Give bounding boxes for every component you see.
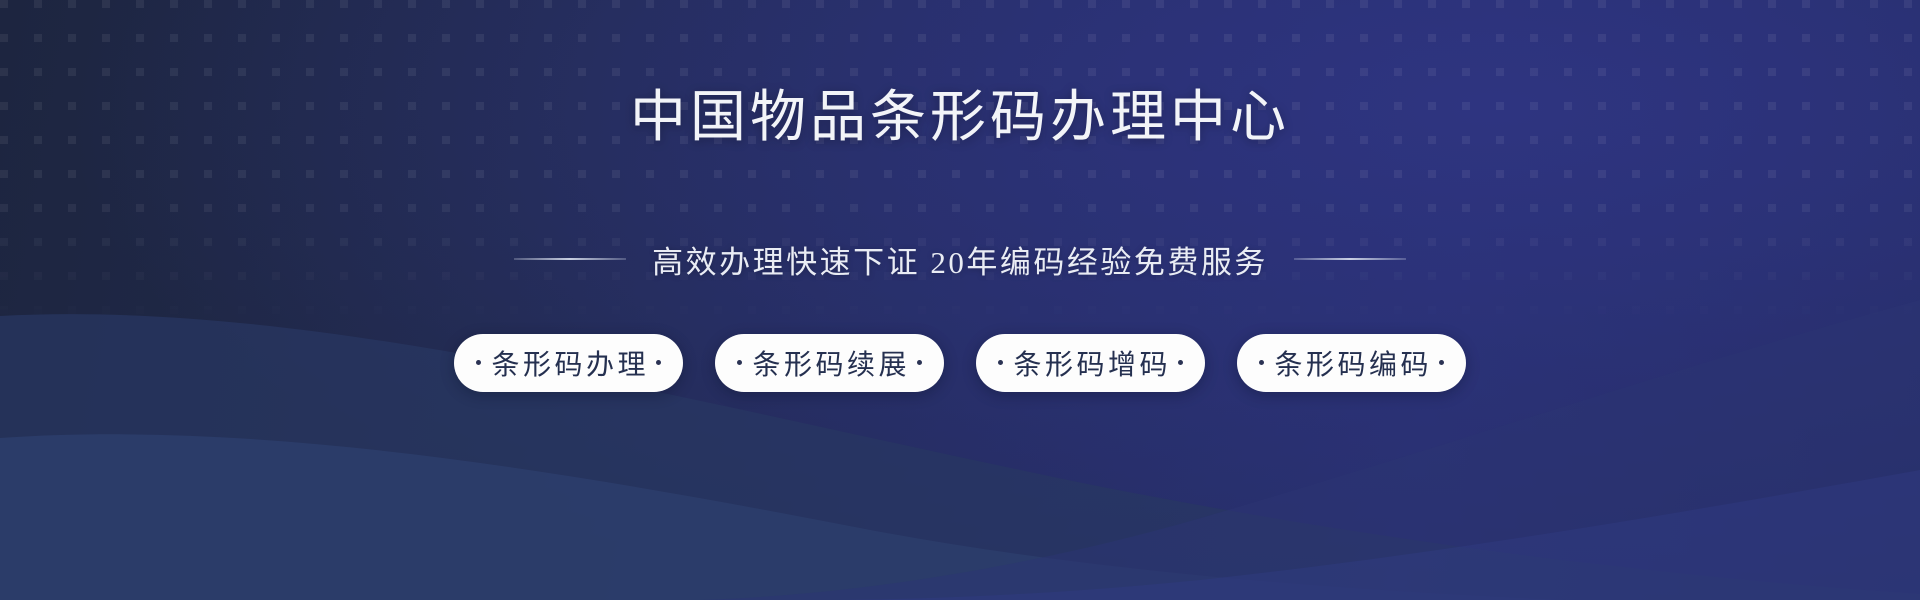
- bullet-dot-icon: [917, 360, 922, 365]
- bullet-dot-icon: [1178, 360, 1183, 365]
- pill-button-barcode-addcode[interactable]: 条形码增码: [976, 334, 1205, 392]
- pill-button-barcode-apply[interactable]: 条形码办理: [454, 334, 683, 392]
- bullet-dot-icon: [476, 360, 481, 365]
- bullet-dot-icon: [998, 360, 1003, 365]
- pill-label: 条形码编码: [1271, 343, 1432, 383]
- right-rule-line: [1294, 258, 1406, 260]
- hero-banner: 中国物品条形码办理中心 高效办理快速下证 20年编码经验免费服务 条形码办理 条…: [0, 0, 1920, 600]
- subtitle-row: 高效办理快速下证 20年编码经验免费服务: [514, 237, 1406, 282]
- bullet-dot-icon: [656, 360, 661, 365]
- bullet-dot-icon: [1439, 360, 1444, 365]
- left-rule-line: [514, 258, 626, 260]
- page-subtitle: 高效办理快速下证 20年编码经验免费服务: [652, 237, 1268, 282]
- pill-button-barcode-renew[interactable]: 条形码续展: [715, 334, 944, 392]
- banner-content: 中国物品条形码办理中心 高效办理快速下证 20年编码经验免费服务 条形码办理 条…: [0, 0, 1920, 600]
- service-pill-row: 条形码办理 条形码续展 条形码增码 条形码编码: [454, 334, 1466, 392]
- pill-label: 条形码办理: [488, 343, 649, 383]
- pill-button-barcode-encode[interactable]: 条形码编码: [1237, 334, 1466, 392]
- bullet-dot-icon: [1259, 360, 1264, 365]
- bullet-dot-icon: [737, 360, 742, 365]
- pill-label: 条形码续展: [749, 343, 910, 383]
- pill-label: 条形码增码: [1010, 343, 1171, 383]
- page-title: 中国物品条形码办理中心: [630, 86, 1290, 151]
